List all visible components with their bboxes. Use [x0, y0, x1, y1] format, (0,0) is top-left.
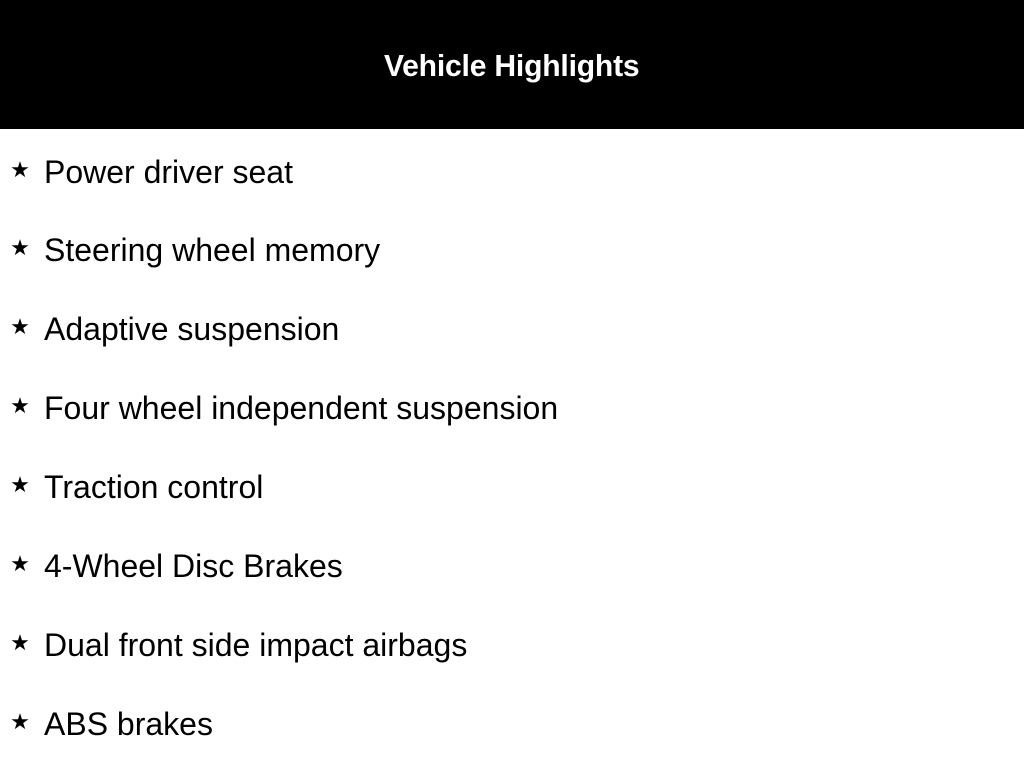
star-icon: ★	[4, 396, 36, 418]
list-item: ★ Power driver seat	[0, 152, 1024, 192]
star-icon: ★	[4, 238, 36, 260]
star-icon: ★	[4, 633, 36, 655]
page-title: Vehicle Highlights	[384, 50, 640, 81]
list-item: ★ Steering wheel memory	[0, 230, 1024, 270]
vehicle-highlights-list: ★ Power driver seat ★ Steering wheel mem…	[0, 129, 1024, 768]
star-icon: ★	[4, 160, 36, 182]
star-icon: ★	[4, 554, 36, 576]
star-icon: ★	[4, 475, 36, 497]
list-item-label: Dual front side impact airbags	[44, 627, 467, 663]
page-header-band: Vehicle Highlights	[0, 0, 1024, 129]
list-item-label: Traction control	[44, 469, 263, 505]
star-icon: ★	[4, 712, 36, 734]
list-item: ★ 4-Wheel Disc Brakes	[0, 546, 1024, 586]
star-icon: ★	[4, 317, 36, 339]
vehicle-highlights-page: Vehicle Highlights ★ Power driver seat ★…	[0, 0, 1024, 768]
list-item: ★ Traction control	[0, 467, 1024, 507]
list-item-label: Adaptive suspension	[44, 311, 339, 347]
list-item: ★ Adaptive suspension	[0, 309, 1024, 349]
list-item-label: ABS brakes	[44, 706, 213, 742]
list-item: ★ Four wheel independent suspension	[0, 388, 1024, 428]
list-item-label: 4-Wheel Disc Brakes	[44, 548, 343, 584]
list-item: ★ ABS brakes	[0, 704, 1024, 744]
list-item-label: Power driver seat	[44, 154, 293, 190]
list-item-label: Steering wheel memory	[44, 232, 380, 268]
list-item: ★ Dual front side impact airbags	[0, 625, 1024, 665]
list-item-label: Four wheel independent suspension	[44, 390, 558, 426]
